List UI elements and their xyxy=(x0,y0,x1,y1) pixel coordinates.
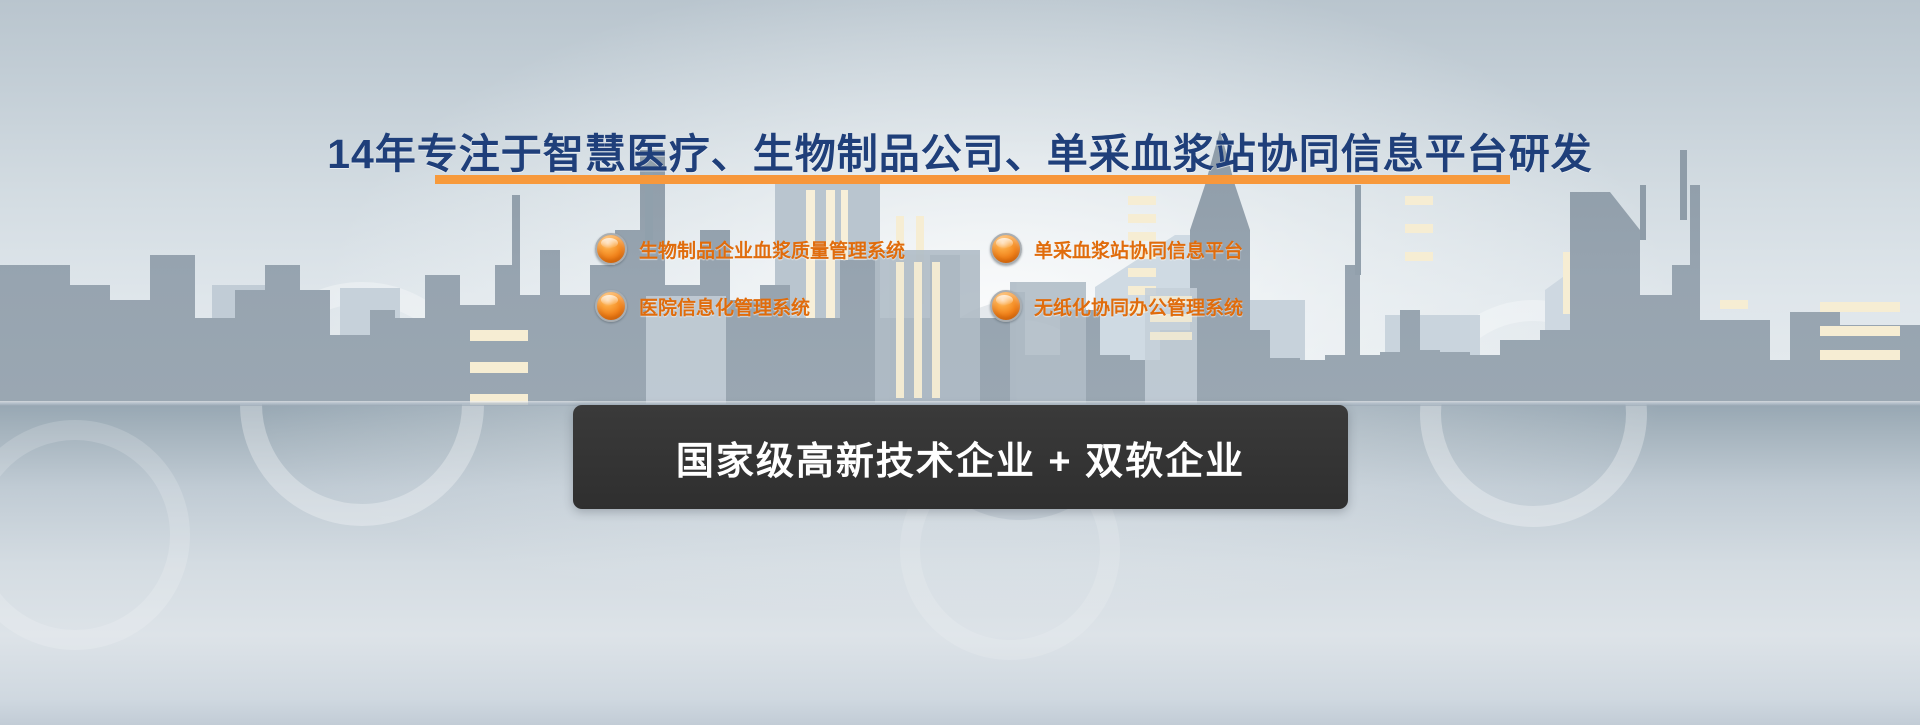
feature-item-plasma-station-platform[interactable]: 单采血浆站协同信息平台 xyxy=(990,233,1350,265)
orange-sphere-bullet-icon xyxy=(595,233,627,265)
certification-badge-text: 国家级高新技术企业 + 双软企业 xyxy=(676,430,1245,485)
hero-banner: 14年专注于智慧医疗、生物制品公司、单采血浆站协同信息平台研发 生物制品企业血浆… xyxy=(0,0,1920,725)
orange-sphere-bullet-icon xyxy=(595,290,627,322)
feature-item-hospital-information[interactable]: 医院信息化管理系统 xyxy=(595,290,990,322)
banner-headline: 14年专注于智慧医疗、生物制品公司、单采血浆站协同信息平台研发 xyxy=(0,120,1920,180)
feature-label: 生物制品企业血浆质量管理系统 xyxy=(639,236,905,263)
certification-badge: 国家级高新技术企业 + 双软企业 xyxy=(573,405,1348,509)
feature-list: 生物制品企业血浆质量管理系统 单采血浆站协同信息平台 医院信息化管理系统 无纸化… xyxy=(595,228,1355,342)
feature-item-plasma-quality[interactable]: 生物制品企业血浆质量管理系统 xyxy=(595,233,990,265)
feature-label: 医院信息化管理系统 xyxy=(639,293,810,320)
feature-item-paperless-office[interactable]: 无纸化协同办公管理系统 xyxy=(990,290,1350,322)
feature-row: 医院信息化管理系统 无纸化协同办公管理系统 xyxy=(595,285,1355,327)
feature-label: 无纸化协同办公管理系统 xyxy=(1034,293,1243,320)
banner-content: 14年专注于智慧医疗、生物制品公司、单采血浆站协同信息平台研发 生物制品企业血浆… xyxy=(0,0,1920,725)
headline-underline-accent xyxy=(435,175,1510,184)
orange-sphere-bullet-icon xyxy=(990,290,1022,322)
feature-row: 生物制品企业血浆质量管理系统 单采血浆站协同信息平台 xyxy=(595,228,1355,270)
feature-label: 单采血浆站协同信息平台 xyxy=(1034,236,1243,263)
orange-sphere-bullet-icon xyxy=(990,233,1022,265)
